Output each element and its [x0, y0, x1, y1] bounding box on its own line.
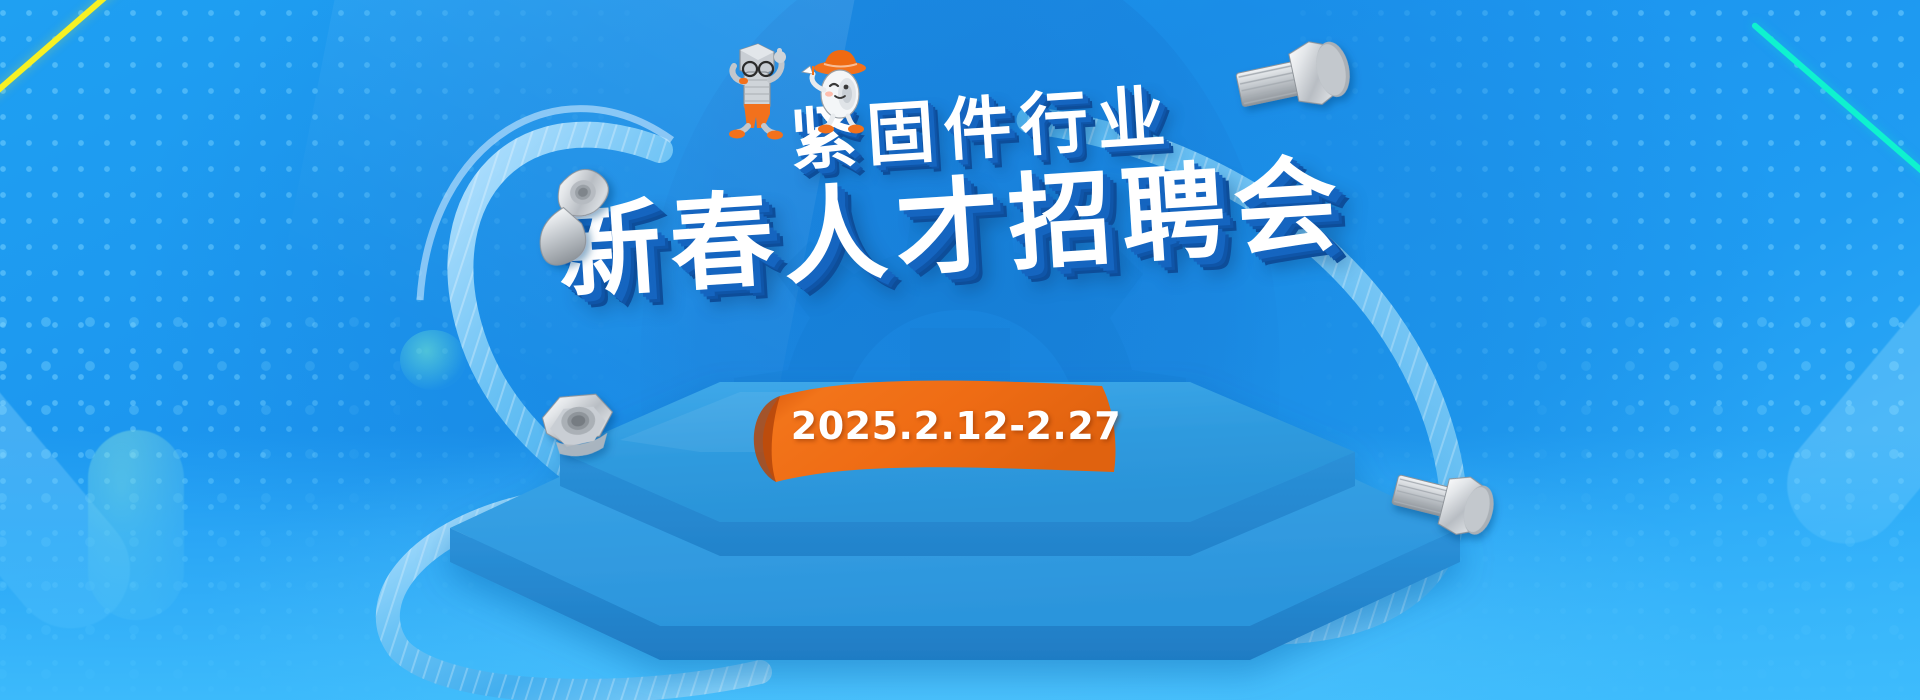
- mascot-group: [718, 42, 918, 142]
- nut-mascot-icon: [802, 50, 866, 134]
- date-ribbon: 2025.2.12-2.27: [742, 372, 1142, 492]
- date-text: 2025.2.12-2.27: [742, 366, 1142, 486]
- gear-watermark-icon: [610, 28, 1310, 688]
- bolt-mascot-icon: [729, 44, 786, 140]
- recruitment-banner: 紧固件行业 新春人才招聘会 2025.2.12-2.27: [0, 0, 1920, 700]
- decorative-teal-blob: [400, 330, 466, 390]
